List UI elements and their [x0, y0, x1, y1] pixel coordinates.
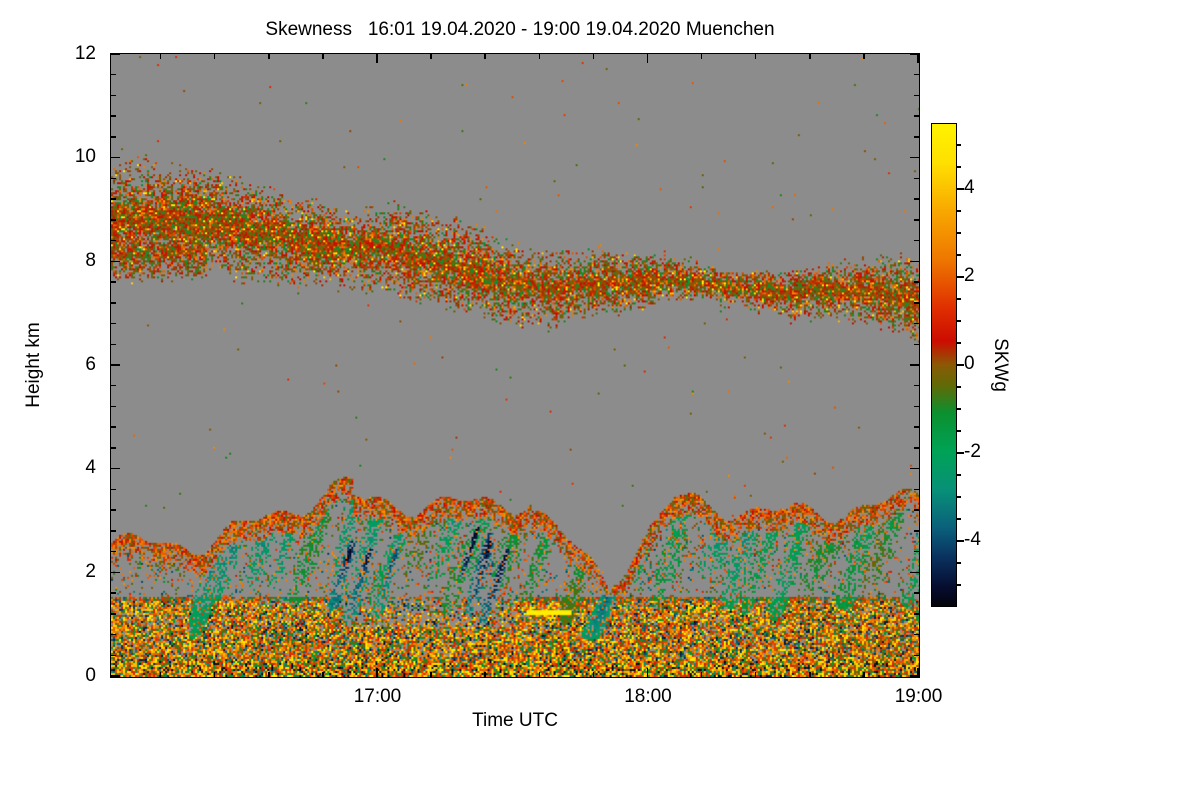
y-axis-tick: [111, 157, 120, 159]
x-axis-tick: [376, 668, 378, 677]
y-axis-tick: [914, 385, 919, 387]
y-axis-tick: [111, 572, 120, 574]
y-axis-tick: [914, 530, 919, 532]
plot-area[interactable]: [110, 53, 920, 678]
x-axis-tick: [214, 672, 216, 677]
colorbar-tick: [957, 144, 961, 146]
x-axis-tick-label: 18:00: [588, 686, 708, 708]
colorbar-tick: [957, 562, 961, 564]
y-axis-tick-label: 8: [0, 250, 96, 272]
y-axis-tick: [111, 178, 116, 180]
x-axis-tick: [647, 668, 649, 677]
colorbar[interactable]: [931, 123, 957, 607]
colorbar-tick: [957, 430, 961, 432]
x-axis-tick-label: 19:00: [859, 686, 979, 708]
y-axis-tick: [111, 136, 116, 138]
x-axis-tick: [539, 54, 541, 59]
y-axis-tick: [111, 655, 116, 657]
y-axis-tick-label: 4: [0, 457, 96, 479]
x-axis-tick: [322, 54, 324, 59]
y-axis-tick: [111, 489, 116, 491]
y-axis-tick: [111, 302, 116, 304]
y-axis-tick: [111, 219, 116, 221]
y-axis-tick: [910, 468, 919, 470]
y-axis-tick: [111, 426, 116, 428]
y-axis-tick: [910, 364, 919, 366]
y-axis-tick: [914, 655, 919, 657]
y-axis-tick: [111, 74, 116, 76]
y-axis-tick: [914, 344, 919, 346]
colorbar-tick: [957, 254, 961, 256]
x-axis-tick: [701, 672, 703, 677]
y-axis-tick: [111, 281, 116, 283]
x-axis-tick: [863, 672, 865, 677]
y-axis-tick: [111, 592, 116, 594]
figure-canvas: Skewness 16:01 19.04.2020 - 19:00 19.04.…: [0, 0, 1200, 800]
y-axis-tick: [914, 509, 919, 511]
x-axis-tick: [917, 54, 919, 63]
x-axis-tick: [755, 54, 757, 59]
y-axis-tick-label: 10: [0, 146, 96, 168]
x-axis-tick: [484, 672, 486, 677]
y-axis-tick: [914, 323, 919, 325]
x-axis-tick: [160, 54, 162, 59]
page-title: Skewness 16:01 19.04.2020 - 19:00 19.04.…: [0, 19, 1040, 41]
colorbar-gradient: [931, 123, 957, 607]
y-axis-tick: [914, 178, 919, 180]
y-axis-tick: [111, 634, 116, 636]
skewness-heatmap[interactable]: [111, 54, 919, 677]
colorbar-tick: [957, 474, 961, 476]
y-axis-tick-label: 0: [0, 665, 96, 687]
y-axis-tick: [910, 157, 919, 159]
x-axis-tick: [268, 54, 270, 59]
x-axis-tick: [701, 54, 703, 59]
y-axis-tick-label: 2: [0, 561, 96, 583]
y-axis-tick: [111, 53, 120, 55]
y-axis-tick: [914, 302, 919, 304]
x-axis-tick: [430, 54, 432, 59]
y-axis-tick-label: 6: [0, 354, 96, 376]
x-axis-tick: [593, 54, 595, 59]
x-axis-tick: [268, 672, 270, 677]
colorbar-tick: [957, 232, 961, 234]
colorbar-title: SKWg: [989, 338, 1011, 392]
colorbar-tick: [957, 364, 964, 366]
y-axis-tick: [111, 406, 116, 408]
y-axis-tick: [914, 551, 919, 553]
y-axis-title: Height km: [23, 322, 45, 408]
y-axis-tick: [914, 198, 919, 200]
y-axis-tick: [914, 426, 919, 428]
colorbar-tick: [957, 386, 961, 388]
y-axis-tick: [111, 240, 116, 242]
colorbar-tick: [957, 342, 961, 344]
y-axis-tick: [914, 136, 919, 138]
x-axis-tick: [809, 672, 811, 677]
colorbar-tick: [957, 408, 961, 410]
x-axis-title: Time UTC: [110, 710, 920, 732]
x-axis-tick: [647, 54, 649, 63]
x-axis-tick: [214, 54, 216, 59]
colorbar-tick-label: -4: [964, 529, 981, 551]
y-axis-tick: [111, 323, 116, 325]
y-axis-tick: [914, 613, 919, 615]
y-axis-tick: [111, 385, 116, 387]
x-axis-tick: [322, 672, 324, 677]
y-axis-tick: [914, 240, 919, 242]
x-axis-tick: [539, 672, 541, 677]
colorbar-tick: [957, 276, 964, 278]
y-axis-tick: [914, 489, 919, 491]
y-axis-tick: [111, 675, 120, 677]
x-axis-tick: [430, 672, 432, 677]
y-axis-tick: [111, 447, 116, 449]
x-axis-tick-label: 17:00: [317, 686, 437, 708]
y-axis-tick: [111, 261, 120, 263]
colorbar-tick-label: 0: [964, 353, 975, 375]
y-axis-tick: [111, 198, 116, 200]
colorbar-tick: [957, 584, 961, 586]
y-axis-tick: [111, 344, 116, 346]
x-axis-tick: [755, 672, 757, 677]
x-axis-tick: [376, 54, 378, 63]
y-axis-tick: [111, 613, 116, 615]
y-axis-tick: [914, 634, 919, 636]
y-axis-tick: [111, 509, 116, 511]
y-axis-tick: [111, 551, 116, 553]
colorbar-tick: [957, 496, 961, 498]
y-axis-tick: [910, 261, 919, 263]
y-axis-tick: [111, 95, 116, 97]
x-axis-tick: [809, 54, 811, 59]
y-axis-tick: [111, 530, 116, 532]
colorbar-tick: [957, 320, 961, 322]
y-axis-tick: [914, 281, 919, 283]
colorbar-tick: [957, 210, 961, 212]
x-axis-tick: [593, 672, 595, 677]
y-axis-tick: [914, 219, 919, 221]
y-axis-tick: [910, 572, 919, 574]
colorbar-tick: [957, 452, 964, 454]
colorbar-tick: [957, 166, 961, 168]
colorbar-tick: [957, 518, 961, 520]
y-axis-tick: [914, 115, 919, 117]
x-axis-tick: [917, 668, 919, 677]
y-axis-tick: [111, 364, 120, 366]
y-axis-tick: [914, 447, 919, 449]
y-axis-tick: [111, 468, 120, 470]
colorbar-tick: [957, 540, 964, 542]
colorbar-tick-label: 4: [964, 177, 975, 199]
y-axis-tick: [914, 95, 919, 97]
colorbar-tick: [957, 188, 964, 190]
colorbar-tick: [957, 298, 961, 300]
y-axis-tick: [914, 592, 919, 594]
x-axis-tick: [484, 54, 486, 59]
colorbar-tick-label: -2: [964, 441, 981, 463]
y-axis-tick-label: 12: [0, 43, 96, 65]
x-axis-tick: [863, 54, 865, 59]
y-axis-tick: [914, 74, 919, 76]
y-axis-tick: [111, 115, 116, 117]
x-axis-tick: [160, 672, 162, 677]
colorbar-tick-label: 2: [964, 265, 975, 287]
y-axis-tick: [914, 406, 919, 408]
